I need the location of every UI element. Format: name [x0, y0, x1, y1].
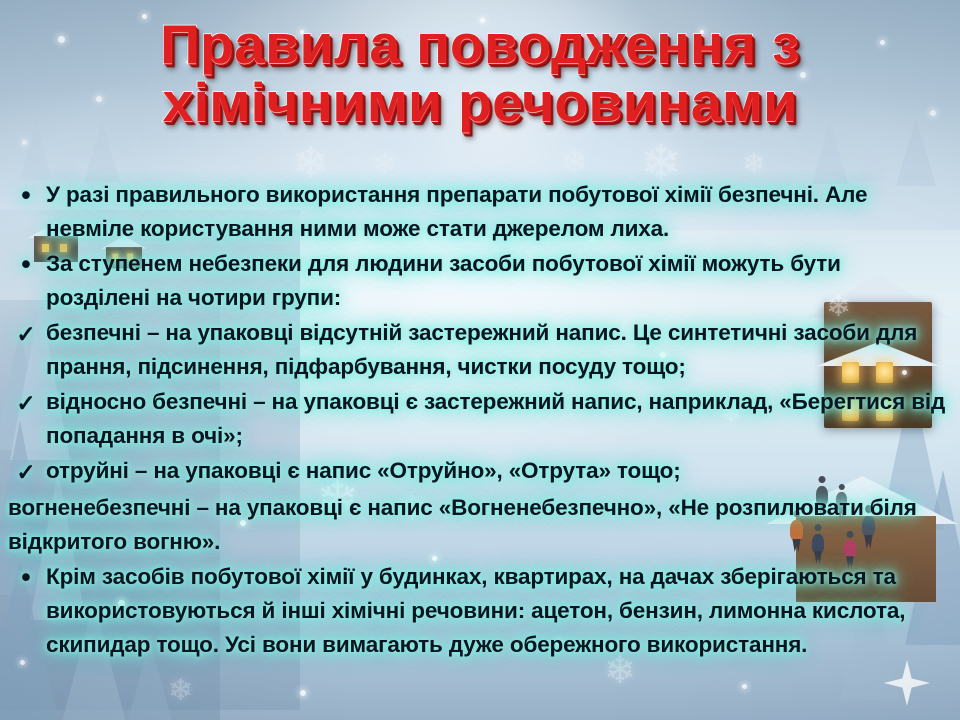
bullet-text: Крім засобів побутової хімії у будинках,…: [42, 560, 946, 662]
snowflake-icon: ❄: [168, 676, 193, 706]
bullet-item: ✓ безпечні – на упаковці відсутній засте…: [10, 316, 946, 384]
bullet-dot-icon: •: [10, 560, 42, 594]
bullet-text: відносно безпечні – на упаковці є застер…: [42, 385, 946, 453]
bullet-item: ✓ відносно безпечні – на упаковці є заст…: [10, 385, 946, 453]
bullet-item: • За ступенем небезпеки для людини засоб…: [10, 247, 946, 315]
bullet-item: • У разі правильного використання препар…: [10, 178, 946, 246]
bullet-check-icon: ✓: [10, 385, 42, 421]
slide-body: • У разі правильного використання препар…: [0, 178, 960, 663]
slide-title-line-1: Правила поводження з: [0, 16, 960, 72]
slide-title: Правила поводження з хімічними речовинам…: [0, 16, 960, 130]
bullet-item: ✓ отруйні – на упаковці є напис «Отруйно…: [10, 454, 946, 490]
bullet-text: безпечні – на упаковці відсутній застере…: [42, 316, 946, 384]
bullet-text: отруйні – на упаковці є напис «Отруйно»,…: [42, 454, 946, 488]
slide-title-line-2: хімічними речовинами: [0, 74, 960, 130]
bullet-dot-icon: •: [10, 178, 42, 212]
bullet-check-icon: ✓: [10, 316, 42, 352]
bullet-text: У разі правильного використання препарат…: [42, 178, 946, 246]
snowflake-icon: ❄: [742, 150, 765, 178]
bullet-text: За ступенем небезпеки для людини засоби …: [42, 247, 946, 315]
bullet-item: • Крім засобів побутової хімії у будинка…: [10, 560, 946, 662]
snowflake-icon: ❄: [560, 146, 589, 180]
bullet-dot-icon: •: [10, 247, 42, 281]
presentation-slide: ❄ ❄ ❄ ❄ ❄ ❄ ❄ ❄ ❄ ❄ ❄: [0, 0, 960, 720]
bullet-check-icon: ✓: [10, 454, 42, 490]
bullet-text: вогненебезпечні – на упаковці є напис «В…: [8, 491, 946, 559]
unbulleted-item: вогненебезпечні – на упаковці є напис «В…: [10, 491, 946, 559]
snowflake-icon: ❄: [372, 150, 397, 180]
